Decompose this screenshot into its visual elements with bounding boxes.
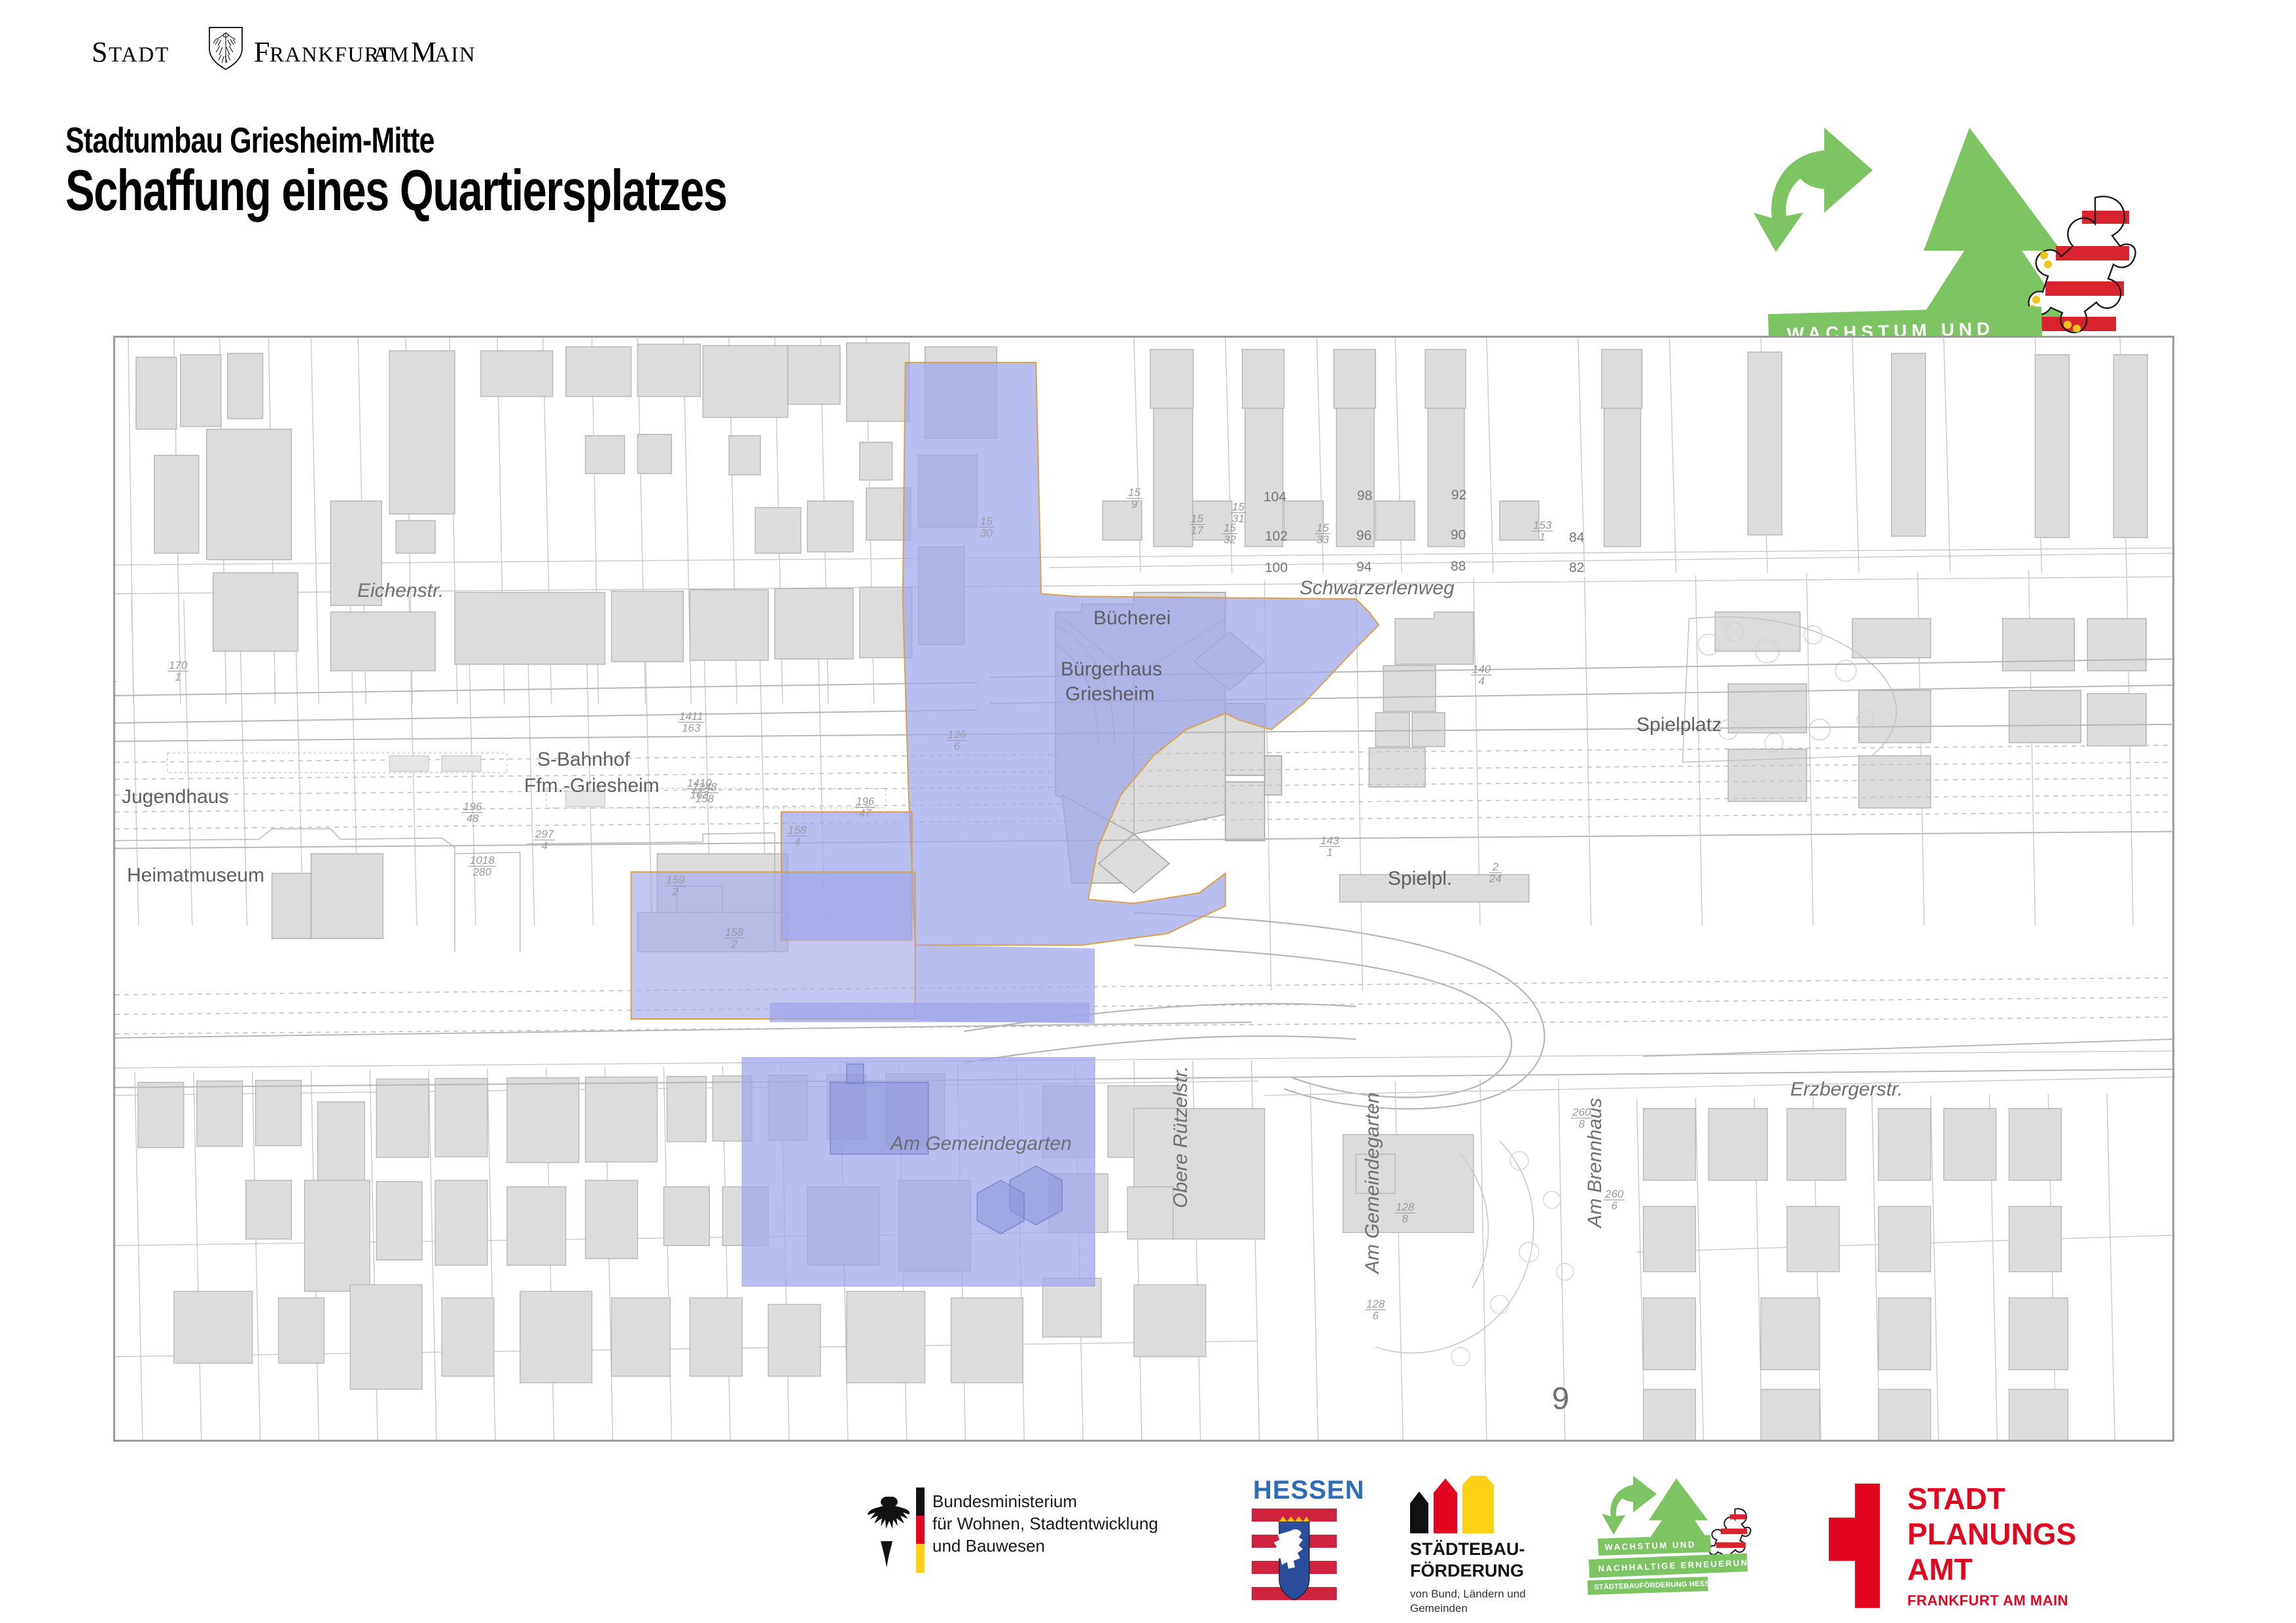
parcel-number: 1411 163 — [678, 711, 705, 734]
staedtebau-line-1: STÄDTEBAU- — [1410, 1539, 1525, 1560]
place-label-spielpl: Spielpl. — [1388, 868, 1452, 890]
house-number: 82 — [1569, 560, 1584, 576]
place-label-buergerhaus: Bürgerhaus — [1061, 658, 1162, 681]
svg-text:AM: AM — [373, 43, 410, 67]
bund-line-3: und Bauwesen — [932, 1535, 1158, 1557]
staedtebau-sub-2: Gemeinden — [1410, 1601, 1526, 1616]
parcel-number: 128 6 — [1365, 1298, 1386, 1321]
staedtebau-text: STÄDTEBAU- FÖRDERUNG — [1410, 1539, 1525, 1582]
svg-text:F: F — [254, 36, 270, 68]
parcel-number: 15 30 — [979, 516, 994, 539]
street-label-eichenstr: Eichenstr. — [357, 580, 444, 602]
bundesministerium-text: Bundesministerium für Wohnen, Stadtentwi… — [932, 1490, 1158, 1557]
parcel-number: 196 47 — [855, 796, 875, 819]
city-logo: S TADT F RANKFURT AM M AIN — [92, 25, 510, 73]
parcel-number: 158 4 — [786, 825, 807, 847]
parcel-number: 158 2 — [724, 927, 745, 950]
bund-line-2: für Wohnen, Stadtentwicklung — [932, 1512, 1158, 1535]
place-label-heimatmuseum: Heimatmuseum — [127, 865, 264, 887]
parcel-number: 143 1 — [1319, 835, 1340, 858]
parcel-number: 159 2 — [665, 874, 686, 897]
street-label-schwarzerlenweg: Schwarzerlenweg — [1299, 577, 1455, 599]
badge-small-line-1: WACHSTUM UND — [1598, 1535, 1711, 1556]
parcel-number: 170 1 — [168, 660, 188, 683]
parcel-number: 1018 280 — [468, 855, 496, 878]
parcel-number: 297 4 — [534, 829, 555, 851]
logo-hessen-badge-small: WACHSTUM UND NACHHALTIGE ERNEUERUNG STÄD… — [1597, 1476, 1786, 1613]
parcel-number: 260 6 — [1604, 1188, 1625, 1211]
house-number: 98 — [1357, 488, 1372, 504]
logo-hessen: HESSEN — [1230, 1476, 1361, 1607]
place-label-buecherei: Bücherei — [1093, 607, 1171, 630]
house-number: 102 — [1265, 529, 1288, 544]
parcel-number: 1384 175 — [113, 670, 116, 693]
parcel-number: 1410 163 — [686, 777, 713, 800]
street-label-erzbergerstr: Erzbergerstr. — [1790, 1079, 1903, 1101]
street-label-am-gemeindegarten-vertical: Am Gemeindegarten — [1362, 1092, 1384, 1274]
parcel-number: 260 8 — [1571, 1107, 1592, 1130]
parcel-number: 128 8 — [1394, 1202, 1415, 1224]
bundesadler-icon — [864, 1490, 910, 1575]
logo-stadtplanungsamt: STADT PLANUNGS AMT FRANKFURT AM MAIN — [1829, 1476, 2195, 1616]
stadtplanungsamt-text: STADT PLANUNGS AMT — [1907, 1481, 2076, 1587]
map-drawing: 9 — [115, 338, 2172, 1442]
spa-subtext: FRANKFURT AM MAIN — [1907, 1592, 2068, 1609]
house-number: 100 — [1265, 560, 1288, 576]
parcel-number: 15 17 — [1190, 513, 1205, 536]
recycle-arrow-icon — [1754, 128, 1873, 252]
svg-text:TADT: TADT — [109, 43, 169, 67]
badge-small-line-3: STÄDTEBAUFÖRDERUNG HESSEN — [1587, 1577, 1708, 1595]
parcel-number: 140 4 — [1471, 664, 1492, 687]
parcel-number: 2 24 — [1489, 861, 1502, 884]
funding-logo-strip: Bundesministerium für Wohnen, Stadtentwi… — [0, 1476, 2296, 1623]
bund-line-1: Bundesministerium — [932, 1490, 1158, 1512]
house-number: 96 — [1356, 528, 1371, 544]
house-number: 84 — [1569, 530, 1584, 546]
place-label-ffm-griesheim: Ffm.-Griesheim — [524, 775, 660, 797]
recycle-arrow-icon — [1602, 1476, 1657, 1535]
frankfurt-red-block-icon — [1829, 1484, 1888, 1608]
house-number: 92 — [1451, 488, 1466, 503]
parcel-number: 196 48 — [462, 801, 483, 824]
staedtebau-subtext: von Bund, Ländern und Gemeinden — [1410, 1587, 1526, 1616]
svg-text:AIN: AIN — [434, 43, 476, 67]
german-flag-bar-icon — [916, 1488, 925, 1573]
place-label-spielplatz: Spielplatz — [1636, 714, 1722, 736]
svg-text:9: 9 — [1552, 1382, 1570, 1416]
place-label-s-bahnhof: S-Bahnhof — [537, 749, 630, 771]
house-number: 94 — [1356, 560, 1371, 575]
parcel-number: 15 33 — [1315, 522, 1330, 545]
staedtebau-line-2: FÖRDERUNG — [1410, 1560, 1525, 1582]
three-house-bars-icon — [1410, 1476, 1541, 1535]
spa-line-3: AMT — [1907, 1552, 2076, 1587]
house-number: 90 — [1451, 527, 1466, 543]
parcel-number: 15 9 — [1127, 487, 1142, 510]
spa-line-1: STADT — [1907, 1481, 2076, 1516]
hessen-wordmark: HESSEN — [1253, 1476, 1365, 1505]
house-number: 88 — [1451, 559, 1466, 575]
svg-text:M: M — [411, 36, 436, 68]
place-label-jugendhaus: Jugendhaus — [122, 786, 228, 808]
page-title: Schaffung eines Quartiersplatzes — [65, 157, 727, 224]
cadastral-map[interactable]: 9 E — [113, 336, 2174, 1442]
parcel-number: 153 1 — [1532, 520, 1553, 543]
hessen-flag-lion-icon — [1252, 1507, 1337, 1602]
spa-line-2: PLANUNGS — [1907, 1516, 2076, 1552]
house-number: 104 — [1263, 490, 1286, 505]
project-subtitle: Stadtumbau Griesheim-Mitte — [65, 119, 434, 161]
parcel-number: 15 31 — [1231, 501, 1246, 524]
logo-bundesministerium: Bundesministerium für Wohnen, Stadtentwi… — [864, 1476, 1204, 1607]
logo-staedtebaufoerderung: STÄDTEBAU- FÖRDERUNG von Bund, Ländern u… — [1410, 1476, 1593, 1613]
parcel-number: 136 6 — [946, 729, 967, 752]
place-label-griesheim: Griesheim — [1065, 683, 1155, 705]
svg-text:S: S — [92, 36, 108, 68]
staedtebau-sub-1: von Bund, Ländern und — [1410, 1587, 1526, 1601]
street-label-am-gemeindegarten: Am Gemeindegarten — [891, 1133, 1072, 1155]
parcel-number: 15 32 — [1222, 522, 1237, 545]
street-label-obere-ruetzelstr: Obere Rützelstr. — [1170, 1066, 1192, 1208]
